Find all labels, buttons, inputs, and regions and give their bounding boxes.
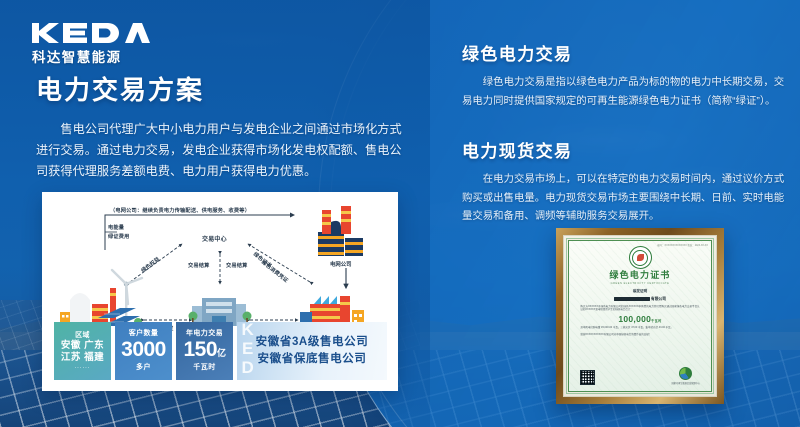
certificate-title: 绿色电力证书 bbox=[609, 271, 670, 280]
certificate-detail: 其中风电已购电量 45,000.00 千瓦，三峡光伏 47.00 千瓦，集中式光… bbox=[580, 326, 699, 330]
panel-line-2: 安徽省保底售电公司 bbox=[258, 351, 367, 368]
brand-logo: 科达智慧能源 bbox=[32, 22, 182, 66]
green-certificate-photo: 编号：XXXXXXXXXXXXXX 签发：2023-XX-XX 绿色电力证书 G… bbox=[556, 228, 724, 404]
certificate-frame: 编号：XXXXXXXXXXXXXX 签发：2023-XX-XX 绿色电力证书 G… bbox=[556, 228, 724, 404]
diagram-node-grid-company: 电网公司 bbox=[330, 260, 352, 268]
region-1: 安徽 bbox=[61, 340, 81, 351]
issuer-emblem-icon bbox=[679, 367, 692, 380]
right-content: 绿色电力交易 绿色电力交易是指以绿色电力产品为标的物的电力中长期交易，交易电力同… bbox=[462, 40, 787, 227]
section-paragraph-green-power: 绿色电力交易是指以绿色电力产品为标的物的电力中长期交易，交易电力同时提供国家规定… bbox=[462, 74, 787, 111]
green-power-seal-icon bbox=[629, 246, 652, 269]
region-3: 江苏 bbox=[61, 352, 81, 363]
stat-annual-sub: 千瓦时 bbox=[193, 362, 216, 372]
certificate-amount: 100,000千瓦时 bbox=[618, 314, 661, 324]
seal-leaf-icon bbox=[637, 254, 644, 261]
stat-region-values: 安徽 广东 江苏 福建 bbox=[61, 340, 104, 363]
stats-strip: 区域 安徽 广东 江苏 福建 ...... 客户数量 3000 多户 年电力交易… bbox=[54, 322, 387, 380]
stat-customers-caption: 客户数量 bbox=[129, 330, 159, 338]
intro-paragraph: 售电公司代理广大中小电力用户与发电企业之间通过市场化方式进行交易。通过电力交易，… bbox=[36, 119, 406, 182]
stat-region-dots: ...... bbox=[74, 364, 90, 370]
stat-region: 区域 安徽 广东 江苏 福建 ...... bbox=[54, 322, 111, 380]
diagram-grid-note: （电网公司：继续负责电力传输配送、供电服务、收费等） bbox=[110, 207, 250, 214]
stat-annual-number: 150 bbox=[183, 338, 217, 361]
section-paragraph-spot-trading: 在电力交易市场上，可以在特定的电力交易时间内，通过议价方式购买或出售电量。电力现… bbox=[462, 171, 787, 227]
stat-region-caption: 区域 bbox=[75, 332, 90, 340]
certificate-company-suffix: 有限公司 bbox=[651, 297, 666, 302]
certificate-footer-row: 国家可再生能源信息管理中心 bbox=[569, 367, 711, 385]
certificate-subtitle: GREEN ELECTRICITY CERTIFICATE bbox=[611, 282, 670, 285]
section-title-green-power: 绿色电力交易 bbox=[462, 40, 787, 65]
certificate-amount-number: 100,000 bbox=[618, 314, 651, 324]
certificate-company: 有限公司 bbox=[614, 297, 666, 302]
stat-annual-trade: 年电力交易 150亿 千瓦时 bbox=[176, 322, 233, 380]
certificate-body: 购买方XXXXXX于绿色电力有限公司的绿色XXXXXX中购置的电力并已经购买通过… bbox=[580, 305, 699, 313]
keda-logotype bbox=[32, 22, 182, 44]
grid-company-illustration bbox=[318, 206, 363, 256]
qr-code-icon bbox=[580, 370, 595, 385]
poster-canvas: 科达智慧能源 电力交易方案 售电公司代理广大中小电力用户与发电企业之间通过市场化… bbox=[0, 0, 800, 427]
stat-customers-sub: 多户 bbox=[136, 362, 151, 372]
certificate-kind: 碳发证明 bbox=[633, 289, 647, 294]
region-2: 广东 bbox=[84, 340, 104, 351]
diagram-center-title: 交易中心 bbox=[202, 234, 227, 243]
section-title-spot-trading: 电力现货交易 bbox=[462, 137, 787, 162]
certificate-serial: 编号：XXXXXXXXXXXXXX 签发：2023-XX-XX bbox=[657, 243, 708, 247]
stat-customers: 客户数量 3000 多户 bbox=[115, 322, 172, 380]
brand-name-cn: 科达智慧能源 bbox=[32, 46, 182, 66]
diagram-left-note-1: 电能量 bbox=[108, 224, 124, 231]
stat-annual-unit: 亿 bbox=[217, 348, 226, 358]
certificate-foot: 感谢XXXXXXXXXXX有限公司对中国绿色电力消费作出的贡献！ bbox=[580, 333, 699, 337]
keda-wordmark-icon bbox=[32, 21, 150, 45]
panel-line-1: 安徽省3A级售电公司 bbox=[256, 334, 369, 351]
diagram-left-note-2: 绿证费用 bbox=[108, 233, 130, 240]
stat-customers-value: 3000 bbox=[121, 339, 166, 360]
certificate-amount-unit: 千瓦时 bbox=[651, 319, 661, 323]
issuer-name: 国家可再生能源信息管理中心 bbox=[672, 381, 700, 385]
redacted-company-name bbox=[614, 297, 650, 301]
generator-illustration bbox=[60, 270, 142, 326]
stat-annual-value: 150亿 bbox=[183, 339, 225, 360]
certification-panel: KEDA 安徽省3A级售电公司 安徽省保底售电公司 bbox=[237, 322, 387, 380]
certificate-paper: 编号：XXXXXXXXXXXXXX 签发：2023-XX-XX 绿色电力证书 G… bbox=[568, 240, 712, 392]
certificate-mat: 编号：XXXXXXXXXXXXXX 签发：2023-XX-XX 绿色电力证书 G… bbox=[563, 235, 717, 397]
diagram-settle-right: 交易结算 bbox=[226, 262, 248, 269]
stat-annual-caption: 年电力交易 bbox=[186, 330, 223, 338]
certificate-issuer: 国家可再生能源信息管理中心 bbox=[672, 367, 700, 385]
region-4: 福建 bbox=[84, 352, 104, 363]
diagram-settle-left: 交易结算 bbox=[188, 262, 210, 269]
panel-watermark: KEDA bbox=[239, 322, 255, 380]
left-content: 电力交易方案 售电公司代理广大中小电力用户与发电企业之间通过市场化方式进行交易。… bbox=[36, 70, 406, 182]
page-title: 电力交易方案 bbox=[36, 70, 406, 107]
diagram-card: （电网公司：继续负责电力传输配送、供电服务、收费等） 电能量 绿证费用 交易中心… bbox=[42, 192, 398, 391]
